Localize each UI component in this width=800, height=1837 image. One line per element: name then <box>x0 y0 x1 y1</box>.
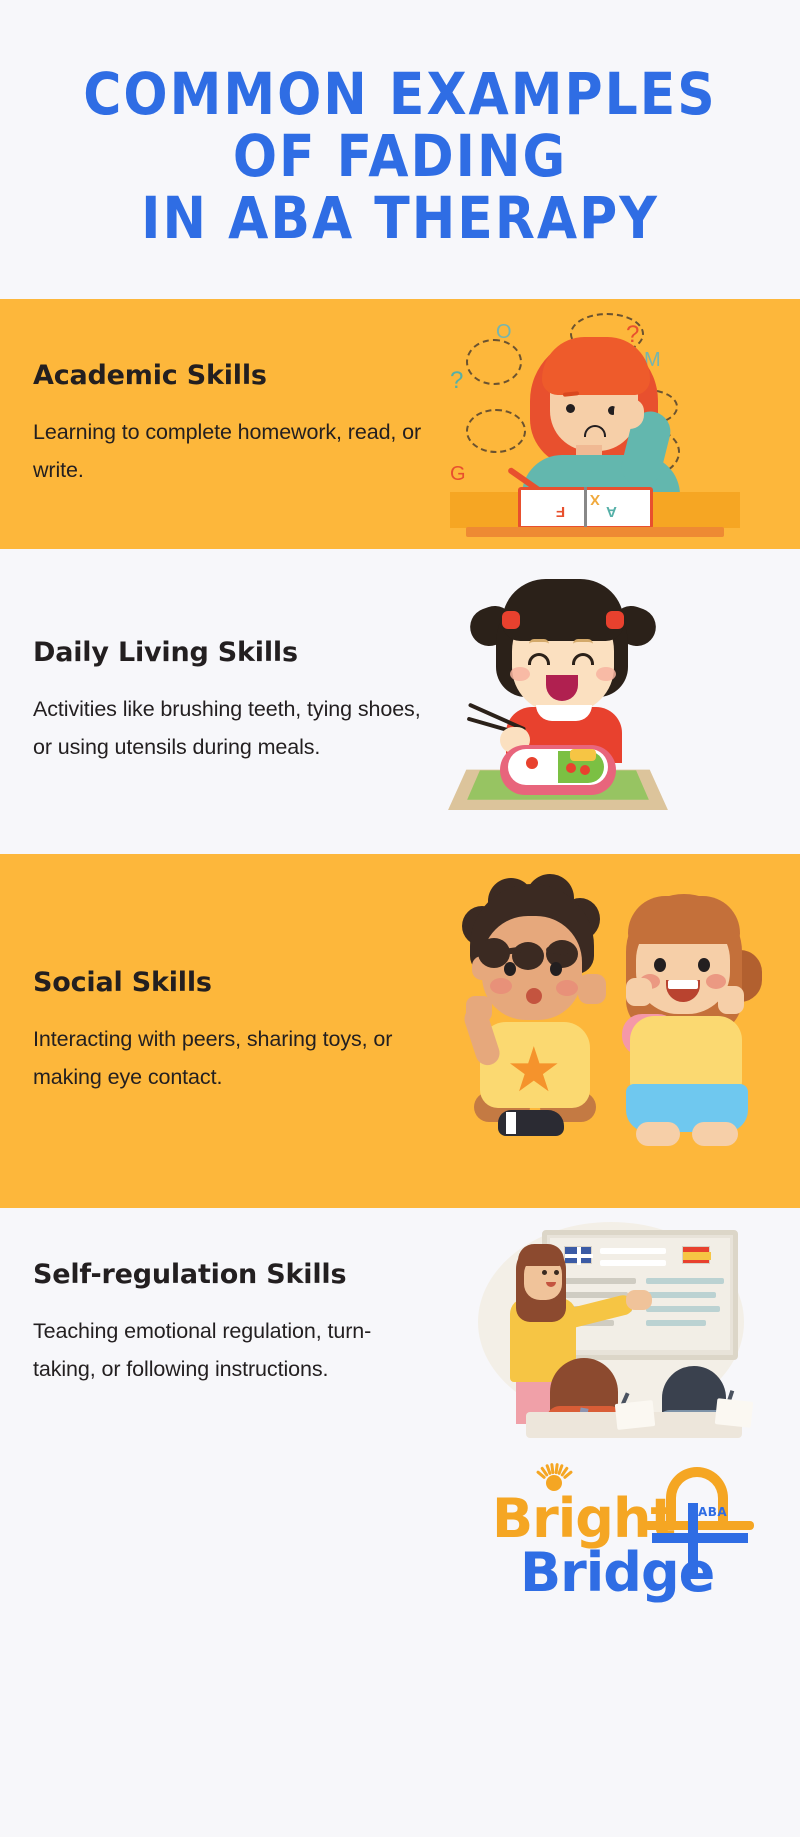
hand-icon <box>578 974 606 1004</box>
tomato-icon <box>566 763 576 773</box>
eye-icon <box>504 962 516 976</box>
page-title-line-3: IN ABA THERAPY <box>141 184 659 253</box>
hair-tie-icon <box>606 611 624 629</box>
panel-academic-body: Learning to complete homework, read, or … <box>33 413 422 489</box>
logo-word-bridge: Bridge <box>520 1541 714 1604</box>
cheek-blush-icon <box>596 667 616 681</box>
board-text-line <box>558 1278 636 1284</box>
eye-icon <box>654 958 666 972</box>
girl-eating-bento-icon <box>430 549 800 854</box>
leg-icon <box>692 1122 738 1146</box>
leg-icon <box>636 1122 680 1146</box>
teeth-icon <box>668 980 698 989</box>
hand-icon <box>718 986 744 1014</box>
notebook-letter-x: X <box>590 491 600 508</box>
two-children-talking-icon: ★ <box>430 854 800 1208</box>
notebook-letter-f: F <box>556 503 565 520</box>
cheek-blush-icon <box>556 980 578 996</box>
board-text-line <box>646 1320 706 1326</box>
panel-self-regulation-text: Self-regulation Skills Teaching emotiona… <box>0 1259 430 1388</box>
thought-loop-icon <box>466 339 522 385</box>
collar-icon <box>536 705 592 721</box>
panel-academic-skills: Academic Skills Learning to complete hom… <box>0 299 800 549</box>
header: COMMON EXAMPLES OF FADING IN ABA THERAPY <box>0 0 800 299</box>
panel-social-skills: Social Skills Interacting with peers, sh… <box>0 854 800 1208</box>
desk-edge-icon <box>466 527 724 537</box>
eyebrow-icon <box>529 639 549 644</box>
panel-self-regulation-skills: Self-regulation Skills Teaching emotiona… <box>0 1208 800 1438</box>
board-text-line <box>646 1292 716 1298</box>
panel-social-body: Interacting with peers, sharing toys, or… <box>33 1020 422 1096</box>
notebook-spine-icon <box>584 487 587 529</box>
logo-lockup: Bright ABA Bridge <box>492 1463 762 1613</box>
board-text-line <box>646 1278 724 1284</box>
teacher-with-students-icon <box>430 1208 800 1438</box>
eye-icon <box>698 958 710 972</box>
fringe-icon <box>518 1244 564 1266</box>
star-icon: ★ <box>506 1040 562 1102</box>
eye-icon <box>566 404 575 413</box>
eye-icon <box>554 1270 559 1275</box>
thought-loop-icon <box>466 409 526 453</box>
panel-social-heading: Social Skills <box>33 967 422 998</box>
floating-letter-g: G <box>450 463 466 486</box>
cheek-blush-icon <box>510 667 530 681</box>
panel-social-text: Social Skills Interacting with peers, sh… <box>0 967 430 1096</box>
hand-icon <box>614 399 644 429</box>
eye-icon <box>550 962 562 976</box>
paper-icon <box>715 1398 754 1428</box>
eye-icon <box>542 1270 547 1275</box>
panel-academic-text: Academic Skills Learning to complete hom… <box>0 360 430 489</box>
floating-letter-o: O <box>496 321 512 344</box>
panel-daily-living-heading: Daily Living Skills <box>33 637 422 668</box>
panel-academic-heading: Academic Skills <box>33 360 422 391</box>
eyebrow-icon <box>573 639 593 644</box>
uk-flag-icon <box>564 1246 592 1264</box>
board-text-line <box>600 1260 666 1266</box>
hair-tie-icon <box>502 611 520 629</box>
hand-icon <box>466 996 492 1022</box>
hand-icon <box>626 1290 652 1310</box>
fringe-icon <box>502 579 624 641</box>
brand-logo[interactable]: Bright ABA Bridge <box>0 1438 800 1638</box>
fringe-icon <box>628 896 740 944</box>
notebook-letter-a: A <box>606 503 617 520</box>
cheek-blush-icon <box>490 978 512 994</box>
umeboshi-icon <box>526 757 538 769</box>
panel-self-regulation-heading: Self-regulation Skills <box>33 1259 422 1290</box>
board-text-line <box>646 1306 720 1312</box>
sneaker-stripe-icon <box>506 1112 516 1134</box>
hand-icon <box>626 978 652 1006</box>
panel-self-regulation-body: Teaching emotional regulation, turn-taki… <box>33 1312 422 1388</box>
paper-icon <box>615 1400 656 1430</box>
fringe-icon <box>542 337 650 395</box>
panel-daily-living-body: Activities like brushing teeth, tying sh… <box>33 690 422 766</box>
board-text-line <box>600 1248 666 1254</box>
mouth-icon <box>526 988 542 1004</box>
tamago-icon <box>570 749 596 761</box>
panel-daily-living-text: Daily Living Skills Activities like brus… <box>0 637 430 766</box>
girl-doing-homework-icon: O ? ? M K D G <box>430 299 800 549</box>
page-title-line-1: COMMON EXAMPLES <box>83 60 717 129</box>
floating-question-mark: ? <box>450 367 463 395</box>
spain-flag-icon <box>682 1246 710 1264</box>
infographic-root: COMMON EXAMPLES OF FADING IN ABA THERAPY… <box>0 0 800 1837</box>
logo-badge-aba: ABA <box>698 1505 727 1519</box>
tomato-icon <box>580 765 590 775</box>
panel-daily-living-skills: Daily Living Skills Activities like brus… <box>0 549 800 854</box>
page-title-line-2: OF FADING <box>233 122 567 191</box>
